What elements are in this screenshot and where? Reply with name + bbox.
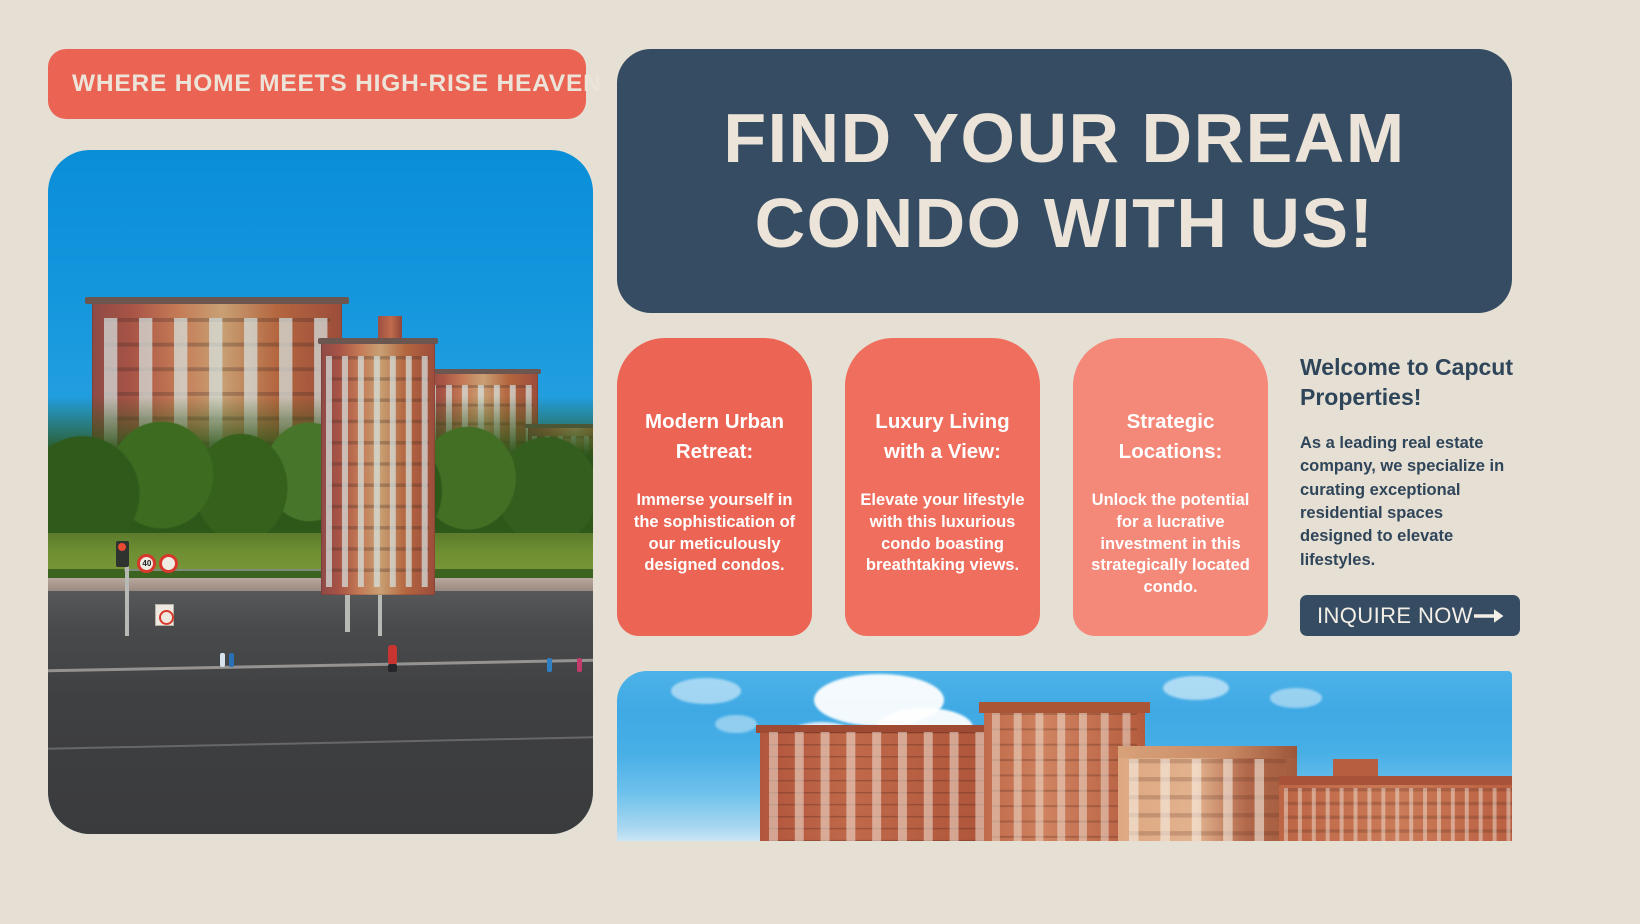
tagline-text: WHERE HOME MEETS HIGH-RISE HEAVEN [72, 70, 602, 98]
feature-card-modern-urban-retreat[interactable]: Modern Urban Retreat: Immerse yourself i… [617, 338, 812, 636]
window-grid [769, 732, 983, 841]
apartment-block-3 [1118, 746, 1297, 841]
regulatory-sign [155, 604, 174, 626]
asphalt-road [48, 591, 593, 834]
inquire-now-button[interactable]: INQUIRE NOW [1300, 595, 1520, 636]
window-grid [1129, 759, 1287, 841]
window-grid [992, 713, 1137, 841]
no-entry-sign [159, 554, 178, 573]
cloud [1270, 688, 1322, 708]
motorcyclist [388, 645, 397, 665]
cloud [671, 678, 741, 704]
pedestrian [229, 653, 234, 667]
hero-condo-photo: 40 [48, 150, 593, 834]
building-tower-2 [321, 338, 435, 595]
inquire-now-label: INQUIRE NOW [1317, 603, 1473, 629]
roof-slab [85, 297, 348, 304]
pedestrian [547, 658, 552, 672]
arrow-right-icon [1474, 607, 1504, 625]
feature-card-title: Luxury Living with a View: [857, 407, 1028, 466]
window-grid [326, 356, 429, 587]
welcome-block: Welcome to Capcut Properties! As a leadi… [1300, 352, 1518, 572]
headline-line-2: CONDO WITH US! [755, 181, 1375, 266]
rooftop-stub [1333, 759, 1378, 776]
apartment-block-1 [760, 725, 993, 841]
roof-slab [421, 369, 541, 374]
pedestrian [577, 658, 582, 672]
feature-card-body: Elevate your lifestyle with this luxurio… [857, 490, 1028, 577]
feature-card-luxury-living-with-a-view[interactable]: Luxury Living with a View: Elevate your … [845, 338, 1040, 636]
poster-canvas: WHERE HOME MEETS HIGH-RISE HEAVEN [0, 0, 1640, 924]
window-grid [1284, 788, 1512, 841]
pedestrian [220, 653, 225, 667]
headline-line-1: FIND YOUR DREAM [723, 96, 1405, 181]
chimney [378, 316, 402, 339]
feature-card-body: Immerse yourself in the sophistication o… [629, 490, 800, 577]
welcome-title: Welcome to Capcut Properties! [1300, 352, 1518, 413]
roof-slab [318, 338, 438, 344]
traffic-light-icon [116, 541, 129, 567]
feature-card-title: Modern Urban Retreat: [629, 407, 800, 466]
cloud [1163, 676, 1229, 700]
feature-card-body: Unlock the potential for a lucrative inv… [1085, 490, 1256, 599]
feature-card-strategic-locations[interactable]: Strategic Locations: Unlock the potentia… [1073, 338, 1268, 636]
bottom-apartment-photo [617, 671, 1512, 841]
headline-card: FIND YOUR DREAM CONDO WITH US! [617, 49, 1512, 313]
tagline-pill: WHERE HOME MEETS HIGH-RISE HEAVEN [48, 49, 586, 119]
feature-card-title: Strategic Locations: [1085, 407, 1256, 466]
welcome-body: As a leading real estate company, we spe… [1300, 432, 1518, 573]
apartment-block-4 [1279, 776, 1512, 841]
